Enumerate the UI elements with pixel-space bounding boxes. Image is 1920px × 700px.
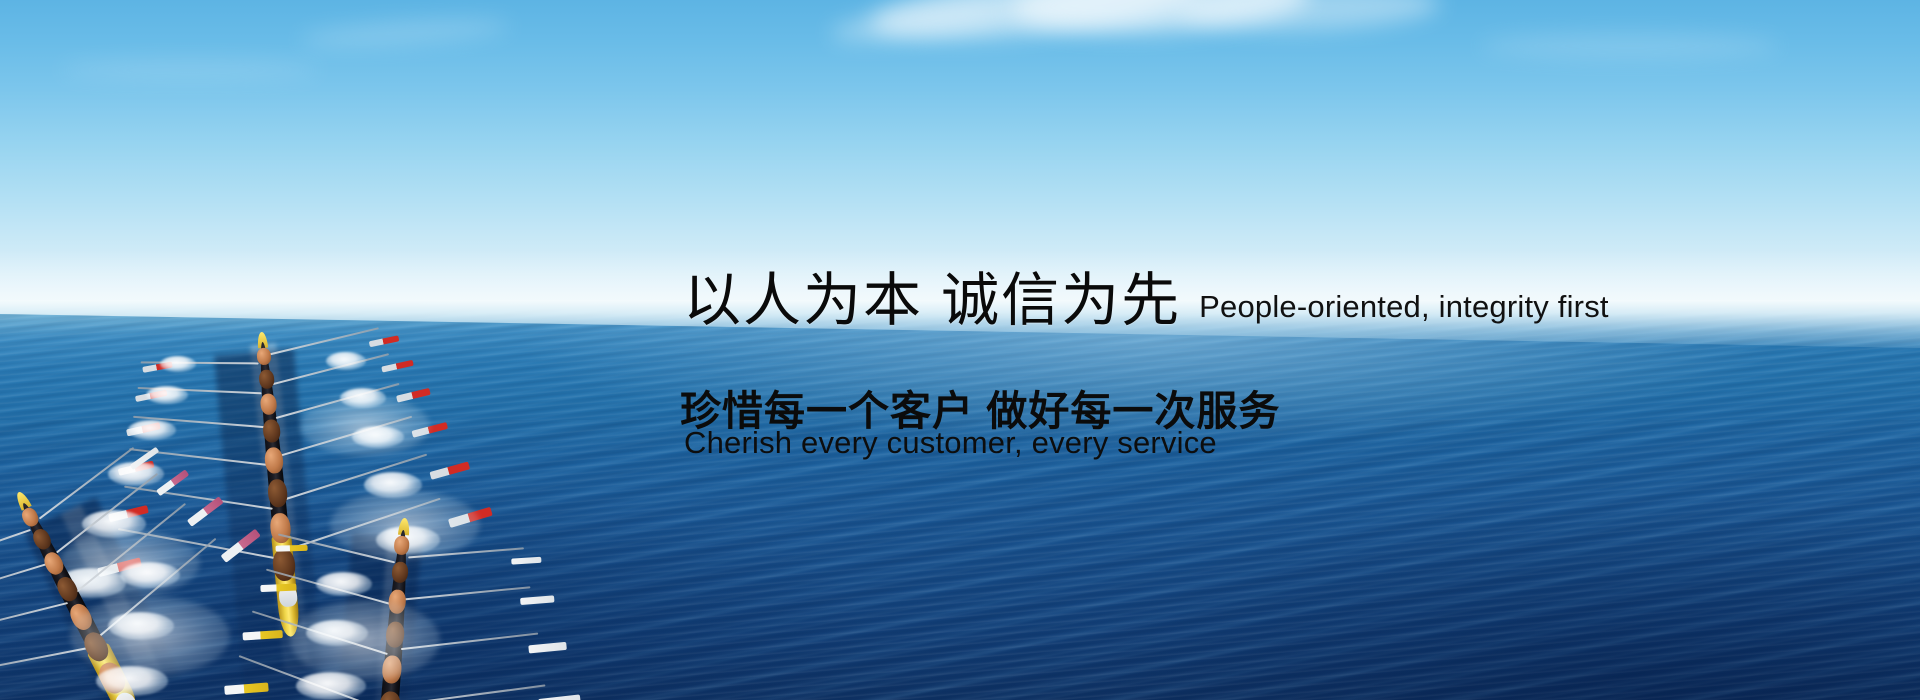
cloud-icon [868, 0, 1202, 51]
oar-splash [120, 562, 180, 588]
oar-splash [326, 352, 366, 370]
water-foam [300, 396, 430, 456]
oar-splash [316, 572, 372, 596]
cloud-icon [1480, 34, 1780, 58]
subline-english: Cherish every customer, every service [684, 425, 1217, 461]
headline-english: People-oriented, integrity first [1199, 289, 1609, 325]
cloud-icon [1179, 0, 1440, 35]
cloud-icon [299, 15, 510, 52]
water-foam [70, 596, 230, 676]
rower [391, 561, 409, 583]
cloud-icon [829, 0, 1021, 49]
water-foam [290, 600, 440, 680]
sea-background [0, 300, 1920, 700]
hero-banner: 以人为本 诚信为先 People-oriented, integrity fir… [0, 0, 1920, 700]
headline-chinese: 以人为本 诚信为先 [683, 272, 1181, 330]
oar-splash [128, 420, 176, 440]
rower [256, 347, 272, 365]
cloud-icon [60, 60, 320, 80]
headline-row: 以人为本 诚信为先 People-oriented, integrity fir… [683, 272, 1609, 330]
oar-splash [146, 386, 188, 404]
rower [393, 535, 409, 555]
oar-splash [160, 356, 196, 372]
rower [258, 369, 275, 389]
oar-blade [276, 545, 308, 552]
cloud-icon [1009, 0, 1312, 40]
